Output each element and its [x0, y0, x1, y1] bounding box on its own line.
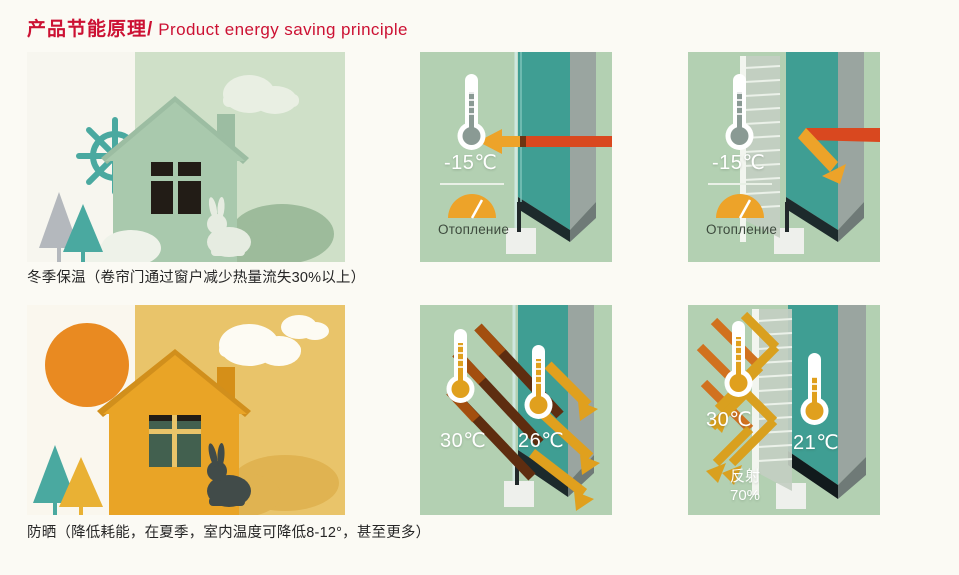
- caption-summer: 防晒（降低耗能，在夏季，室内温度可降低8-12°，甚至更多）: [27, 521, 430, 542]
- panel-winter-with-shutter: -15℃ Отопление: [688, 52, 880, 262]
- window-base-post: [517, 202, 521, 232]
- caption-winter: 冬季保温（卷帘门通过窗户减少热量流失30%以上）: [27, 266, 365, 287]
- summer-illustration: [27, 305, 345, 515]
- panel-summer-with-shutter: 30℃ 21℃ 反射 70%: [688, 305, 880, 515]
- outside-temp-label: 30℃: [440, 428, 486, 453]
- outside-temp-label: -15℃: [712, 150, 765, 175]
- sun-shape: [45, 323, 129, 407]
- page-title-en: Product energy saving principle: [158, 20, 408, 40]
- window-mullion-h: [151, 176, 201, 181]
- window-mullion-v: [172, 415, 177, 467]
- window-reveal: [838, 305, 866, 485]
- heating-label: Отопление: [706, 222, 777, 237]
- outside-temp-label: -15℃: [444, 150, 497, 175]
- panel-summer-no-shutter: 30℃ 26℃: [420, 305, 612, 515]
- window-base-post: [785, 202, 789, 232]
- page-title: 产品节能原理 / Product energy saving principle: [27, 14, 408, 41]
- inside-temp-label: 21℃: [793, 430, 839, 455]
- inside-temp-label: 26℃: [518, 428, 564, 453]
- panel-winter-no-shutter: -15℃ Отопление: [420, 52, 612, 262]
- window-mullion-v: [173, 162, 178, 214]
- panel-winter-scene: [27, 52, 345, 262]
- window-mullion-h: [149, 429, 201, 434]
- summer-open-diagram: [420, 305, 612, 515]
- page-title-separator: /: [147, 19, 152, 41]
- winter-illustration: [27, 52, 345, 262]
- page-title-cn: 产品节能原理: [27, 14, 147, 41]
- heating-label: Отопление: [438, 222, 509, 237]
- outside-temp-label: 30℃: [706, 407, 752, 432]
- panel-summer-scene: [27, 305, 345, 515]
- reflect-value: 70%: [710, 487, 780, 504]
- reflect-label: 反射: [710, 465, 780, 486]
